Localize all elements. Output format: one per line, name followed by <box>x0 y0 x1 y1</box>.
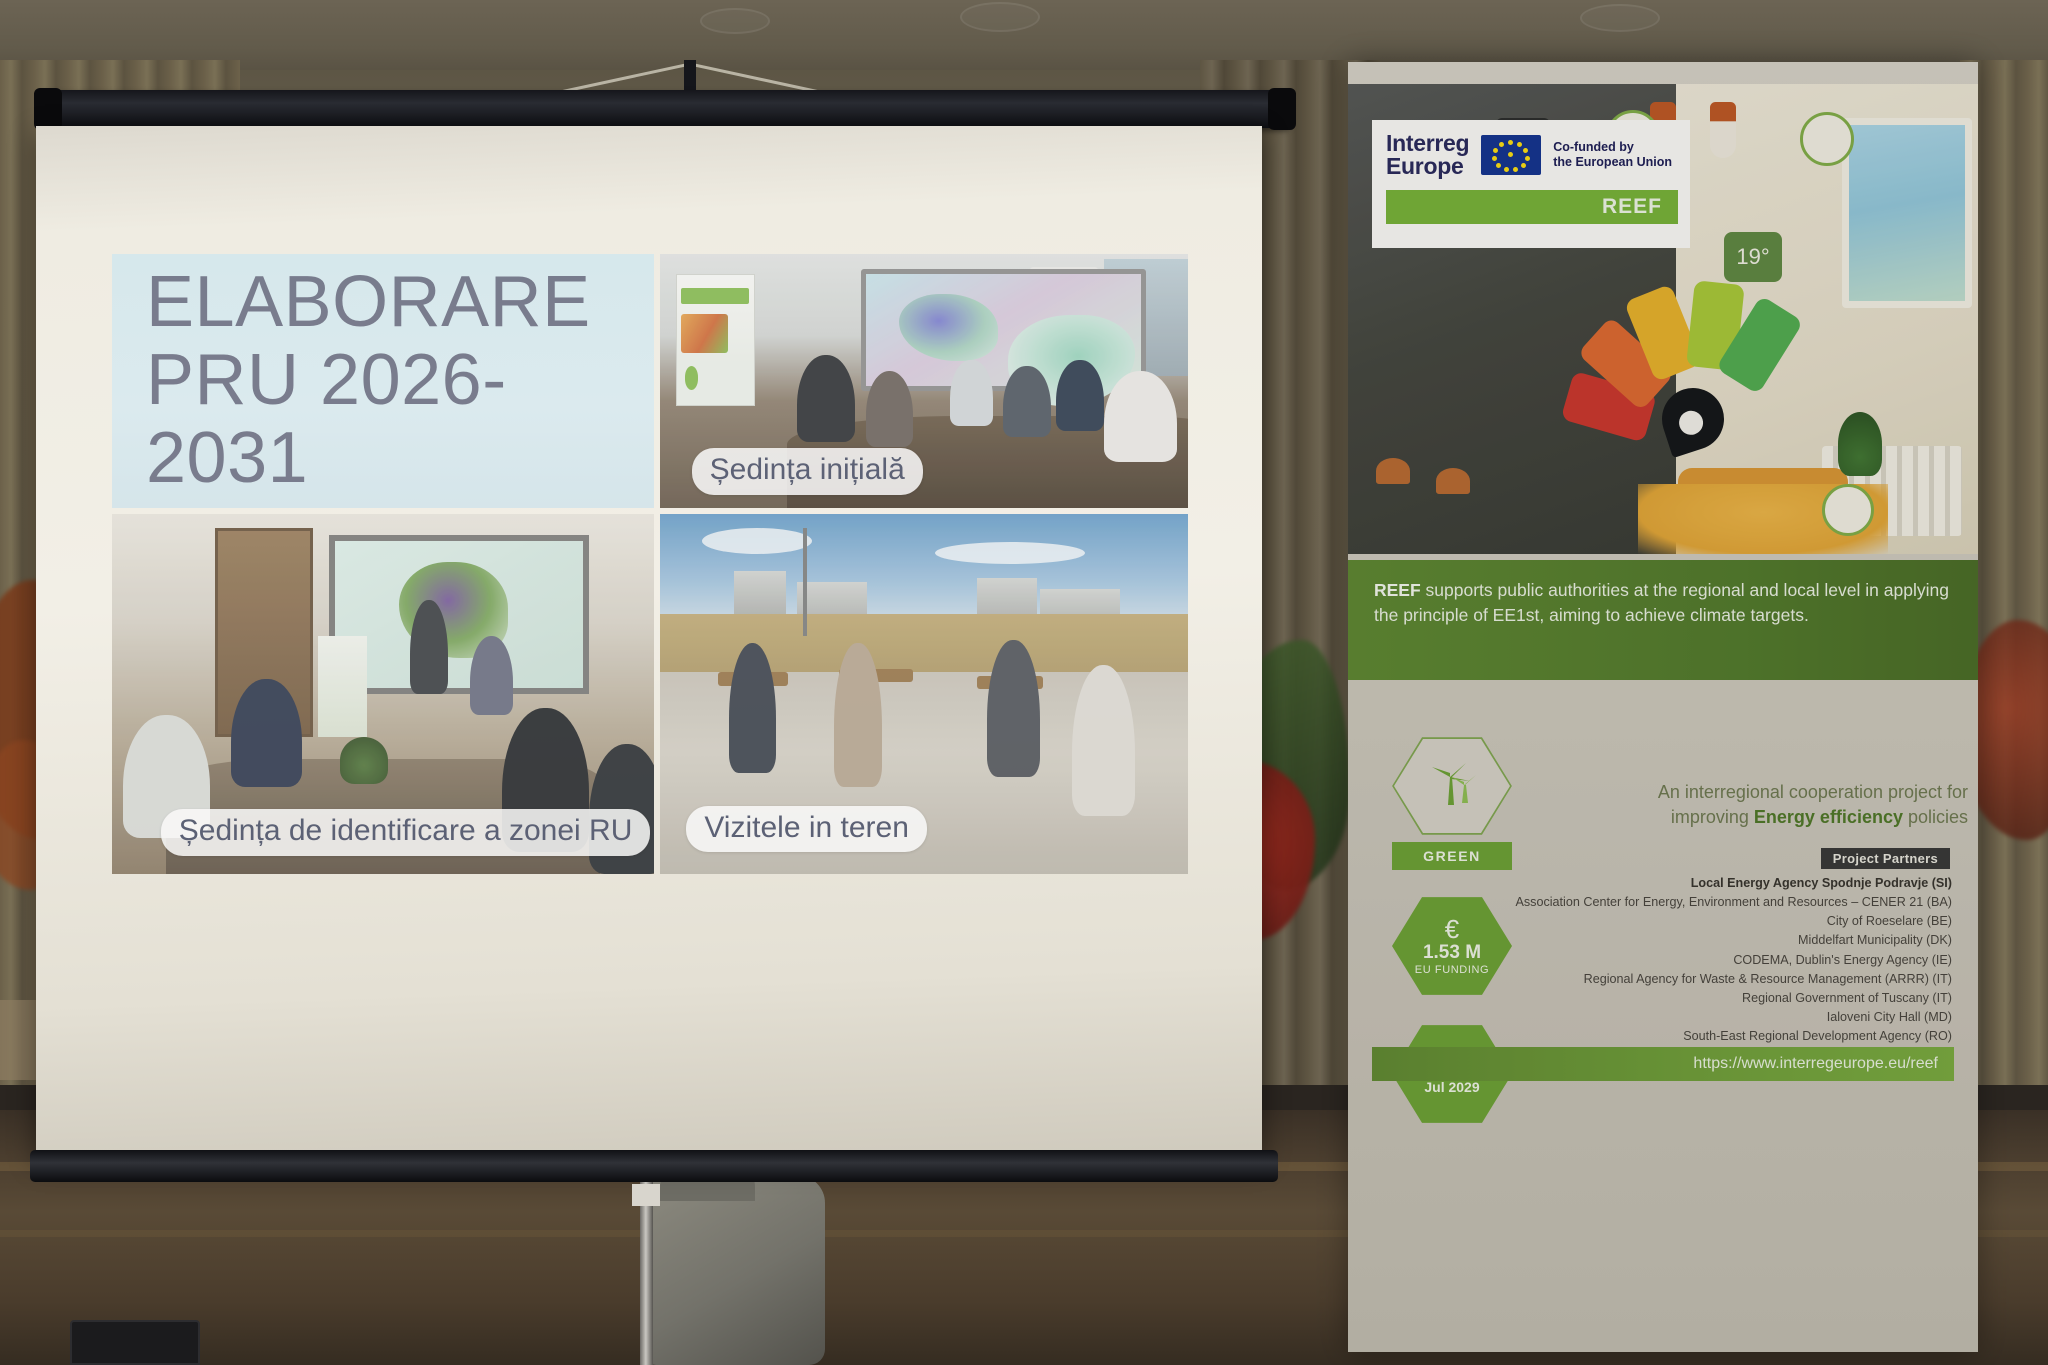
slide-title-line-2: PRU 2026-2031 <box>146 342 654 498</box>
cloud <box>702 528 812 554</box>
plant-icon <box>1838 412 1882 476</box>
banner-side-print <box>1356 1022 1365 1102</box>
ceiling-light-1 <box>700 8 770 34</box>
screen-stand-knob <box>632 1184 660 1206</box>
slide-title-block: ELABORARE PRU 2026-2031 <box>112 254 654 508</box>
insulation-icon <box>1800 112 1854 166</box>
cofunded-line-2: the European Union <box>1553 155 1672 171</box>
banner-statement-band: REEF supports public authorities at the … <box>1348 560 1978 680</box>
interreg-logo-line-1: Interreg <box>1386 132 1469 155</box>
visitor <box>834 643 882 787</box>
screen-stand-pole <box>640 1182 653 1365</box>
logo-row: Interreg Europe <box>1386 132 1678 179</box>
laptop <box>70 1320 200 1365</box>
partner-item: Middelfart Municipality (DK) <box>1482 931 1952 950</box>
funding-caption: EU FUNDING <box>1415 964 1489 976</box>
rollup-image <box>681 314 727 353</box>
interreg-logo-line-2: Europe <box>1386 155 1469 178</box>
partner-item: Regional Agency for Waste & Resource Man… <box>1482 970 1952 989</box>
tagline-prefix: improving <box>1671 807 1754 827</box>
banner-logo-block: Interreg Europe <box>1372 120 1690 248</box>
attendee <box>1003 366 1051 437</box>
reef-rollup-banner: 23° 19° Interreg Europe <box>1348 62 1978 1352</box>
banner-url-bar[interactable]: https://www.interregeurope.eu/reef <box>1372 1047 1954 1081</box>
rollup-dot <box>685 366 699 389</box>
windmill-icon <box>1426 757 1478 816</box>
attendee <box>1056 360 1104 431</box>
street-light-pole <box>803 528 807 636</box>
green-theme-label: GREEN <box>1392 842 1512 870</box>
slide-photo-field-visits: Vizitele in teren <box>660 514 1188 874</box>
partner-item: Association Center for Energy, Environme… <box>1482 893 1952 912</box>
projection-screen-photo2 <box>329 535 589 694</box>
funding-amount: 1.53 M <box>1423 942 1481 964</box>
partner-item: City of Roeselare (BE) <box>1482 912 1952 931</box>
eu-funding-badge: € 1.53 M EU FUNDING <box>1392 894 1512 998</box>
plant-photo2 <box>340 737 389 784</box>
slide-photo-identification-meeting: Ședința de identificare a zonei RU <box>112 514 654 874</box>
reef-project-tag-bar: REEF <box>1386 190 1678 224</box>
window-icon <box>1842 118 1972 308</box>
cofunded-text: Co-funded by the European Union <box>1553 140 1672 171</box>
reef-project-tag: REEF <box>1602 195 1662 219</box>
screenshot-scene: ELABORARE PRU 2026-2031 <box>0 0 2048 1365</box>
green-theme-badge <box>1392 734 1512 838</box>
interreg-europe-logo: Interreg Europe <box>1386 132 1469 179</box>
lightbulb-icon <box>1710 102 1736 158</box>
screen-bar-cap-left <box>34 88 62 130</box>
tagline-line-2: improving Energy efficiency policies <box>1558 805 1968 830</box>
euro-symbol-icon: € <box>1445 916 1459 942</box>
rollup-stripe <box>681 288 749 304</box>
energy-rating-gauge-icon <box>1534 254 1824 434</box>
presenter <box>410 600 448 694</box>
tagline-line-1: An interregional cooperation project for <box>1558 780 1968 805</box>
attendee <box>470 636 513 715</box>
rollup-banner-photo1 <box>676 274 755 406</box>
slide-photo-initial-meeting: Ședința inițială <box>660 254 1188 508</box>
projected-slide: ELABORARE PRU 2026-2031 <box>112 254 1188 874</box>
photo-caption-initial-meeting: Ședința inițială <box>692 448 923 495</box>
project-url[interactable]: https://www.interregeurope.eu/reef <box>1693 1055 1938 1073</box>
backpack <box>640 1175 825 1365</box>
tagline-bold: Energy efficiency <box>1754 807 1903 827</box>
screen-canvas: ELABORARE PRU 2026-2031 <box>36 126 1262 1156</box>
attendee <box>231 679 301 787</box>
pendant-lamp-icon <box>1436 468 1470 494</box>
attendee <box>950 360 992 426</box>
partner-item: South-East Regional Development Agency (… <box>1482 1027 1952 1046</box>
eu-flag-icon <box>1481 135 1541 175</box>
partner-item: Regional Government of Tuscany (IT) <box>1482 989 1952 1008</box>
rollup-banner-photo2 <box>318 636 367 737</box>
statement-bold-prefix: REEF <box>1374 580 1421 600</box>
screen-bar-cap-right <box>1268 88 1296 130</box>
pendant-lamp-icon <box>1376 458 1410 484</box>
banner-tagline: An interregional cooperation project for… <box>1558 780 1968 830</box>
projector-screen: ELABORARE PRU 2026-2031 <box>40 60 1290 1170</box>
tagline-suffix: policies <box>1903 807 1968 827</box>
cofunded-line-1: Co-funded by <box>1553 140 1672 156</box>
photo-caption-field-visits: Vizitele in teren <box>686 806 927 853</box>
no-smoke-icon <box>1822 484 1874 536</box>
attendee <box>1104 371 1178 462</box>
ceiling-light-3 <box>1580 4 1660 32</box>
project-partners-list: Local Energy Agency Spodnje Podravje (SI… <box>1482 874 1952 1065</box>
project-partners-heading: Project Partners <box>1821 848 1950 869</box>
partner-item: Ialoveni City Hall (MD) <box>1482 1008 1952 1027</box>
slide-title-line-1: ELABORARE <box>146 264 654 342</box>
ceiling-light-2 <box>960 2 1040 32</box>
attendee <box>797 355 855 441</box>
partner-lead: Local Energy Agency Spodnje Podravje (SI… <box>1482 874 1952 893</box>
partner-item: CODEMA, Dublin's Energy Agency (IE) <box>1482 951 1952 970</box>
screen-bottom-bar <box>30 1150 1278 1182</box>
screen-top-bar <box>40 90 1290 128</box>
photo-caption-identification-meeting: Ședința de identificare a zonei RU <box>161 809 651 856</box>
wind-turbine-icon <box>1426 757 1478 809</box>
statement-body: supports public authorities at the regio… <box>1374 580 1949 625</box>
